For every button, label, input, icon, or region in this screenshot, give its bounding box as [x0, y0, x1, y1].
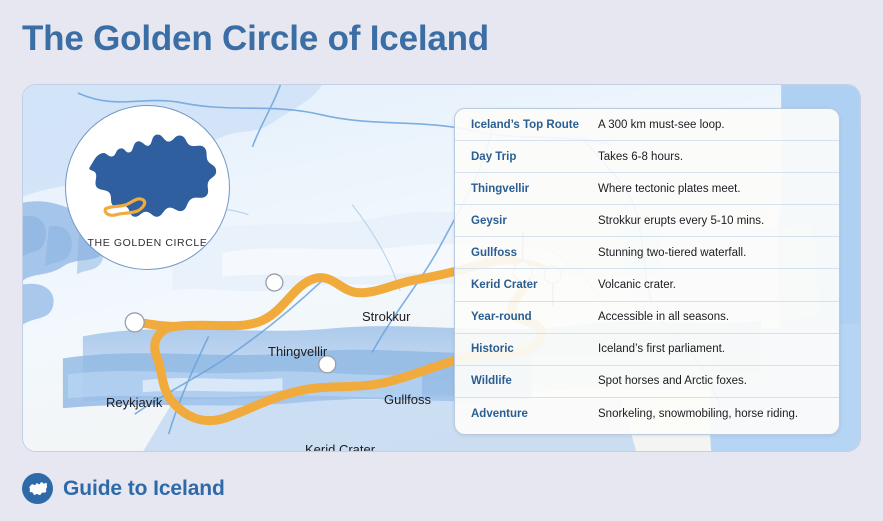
- row-value: Volcanic crater.: [598, 279, 839, 291]
- row-value: A 300 km must-see loop.: [598, 119, 839, 131]
- table-row[interactable]: Geysir Strokkur erupts every 5-10 mins.: [455, 205, 839, 237]
- map-label-gullfoss: Gullfoss: [384, 392, 431, 407]
- row-value: Takes 6-8 hours.: [598, 151, 839, 163]
- inset-caption: THE GOLDEN CIRCLE: [66, 237, 229, 249]
- row-key: Day Trip: [455, 151, 598, 163]
- page-title: The Golden Circle of Iceland: [22, 19, 489, 59]
- table-row[interactable]: Thingvellir Where tectonic plates meet.: [455, 173, 839, 205]
- map-card[interactable]: THE GOLDEN CIRCLE Reykjavík Thingvellir …: [22, 84, 861, 452]
- table-row[interactable]: Iceland’s Top Route A 300 km must-see lo…: [455, 109, 839, 141]
- table-row[interactable]: Gullfoss Stunning two-tiered waterfall.: [455, 237, 839, 269]
- iceland-circle-logo-icon: [22, 473, 53, 504]
- row-value: Iceland’s first parliament.: [598, 343, 839, 355]
- table-row[interactable]: Day Trip Takes 6-8 hours.: [455, 141, 839, 173]
- table-row[interactable]: Wildlife Spot horses and Arctic foxes.: [455, 366, 839, 398]
- inset-locator-map: THE GOLDEN CIRCLE: [65, 105, 230, 270]
- row-key: Geysir: [455, 215, 598, 227]
- table-row[interactable]: Year-round Accessible in all seasons.: [455, 302, 839, 334]
- row-value: Where tectonic plates meet.: [598, 183, 839, 195]
- row-key: Iceland’s Top Route: [455, 119, 598, 131]
- row-key: Year-round: [455, 311, 598, 323]
- row-value: Accessible in all seasons.: [598, 311, 839, 323]
- row-value: Snorkeling, snowmobiling, horse riding.: [598, 408, 839, 420]
- row-key: Historic: [455, 343, 598, 355]
- footer-brand[interactable]: Guide to Iceland: [22, 473, 225, 504]
- row-value: Spot horses and Arctic foxes.: [598, 375, 839, 387]
- table-row[interactable]: Kerid Crater Volcanic crater.: [455, 269, 839, 301]
- map-label-thingvellir: Thingvellir: [268, 344, 327, 359]
- map-label-reykjavik: Reykjavík: [106, 395, 162, 410]
- row-key: Adventure: [455, 408, 598, 420]
- info-table: Iceland’s Top Route A 300 km must-see lo…: [454, 108, 840, 435]
- row-value: Strokkur erupts every 5-10 mins.: [598, 215, 839, 227]
- map-label-strokkur: Strokkur: [362, 309, 410, 324]
- row-key: Thingvellir: [455, 183, 598, 195]
- brand-name: Guide to Iceland: [63, 477, 225, 501]
- row-key: Gullfoss: [455, 247, 598, 259]
- table-row[interactable]: Adventure Snorkeling, snowmobiling, hors…: [455, 398, 839, 430]
- map-label-kerid-crater: Kerid Crater: [305, 442, 375, 452]
- table-row[interactable]: Historic Iceland’s first parliament.: [455, 334, 839, 366]
- row-key: Wildlife: [455, 375, 598, 387]
- row-value: Stunning two-tiered waterfall.: [598, 247, 839, 259]
- row-key: Kerid Crater: [455, 279, 598, 291]
